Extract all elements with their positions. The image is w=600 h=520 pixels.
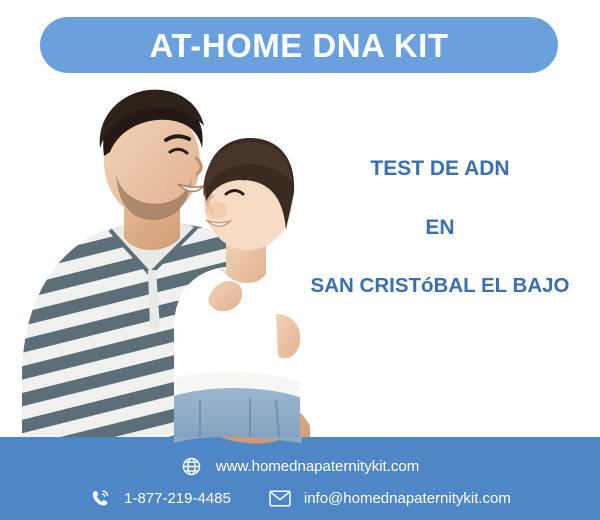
envelope-icon: [269, 487, 291, 509]
footer-contact-bar: www.homednapaternitykit.com 1-877-219-44…: [0, 437, 600, 520]
footer-row-website: www.homednapaternitykit.com: [0, 455, 600, 477]
headline-line-1: TEST DE ADN: [290, 158, 590, 179]
footer-website-label: www.homednapaternitykit.com: [216, 459, 419, 474]
phone-icon: [89, 487, 111, 509]
headline-line-2: EN: [290, 217, 590, 238]
footer-phone[interactable]: 1-877-219-4485: [89, 487, 231, 509]
footer-email-label: info@homednapaternitykit.com: [304, 491, 511, 506]
footer-email[interactable]: info@homednapaternitykit.com: [269, 487, 511, 509]
footer-row-phone-email: 1-877-219-4485 info@homednapaternitykit.…: [0, 487, 600, 509]
header-banner: AT-HOME DNA KIT: [40, 17, 558, 73]
headline-line-3: SAN CRISTóBAL EL BAJO: [290, 276, 590, 297]
headline-block: TEST DE ADN EN SAN CRISTóBAL EL BAJO: [290, 158, 590, 297]
footer-website[interactable]: www.homednapaternitykit.com: [181, 455, 419, 477]
footer-phone-label: 1-877-219-4485: [124, 491, 231, 506]
page-title: AT-HOME DNA KIT: [150, 29, 449, 62]
globe-icon: [181, 455, 203, 477]
father-and-child-photo: [0, 78, 320, 450]
poster-canvas: AT-HOME DNA KIT: [0, 0, 600, 520]
father-and-child-photo-icon: [0, 78, 320, 450]
